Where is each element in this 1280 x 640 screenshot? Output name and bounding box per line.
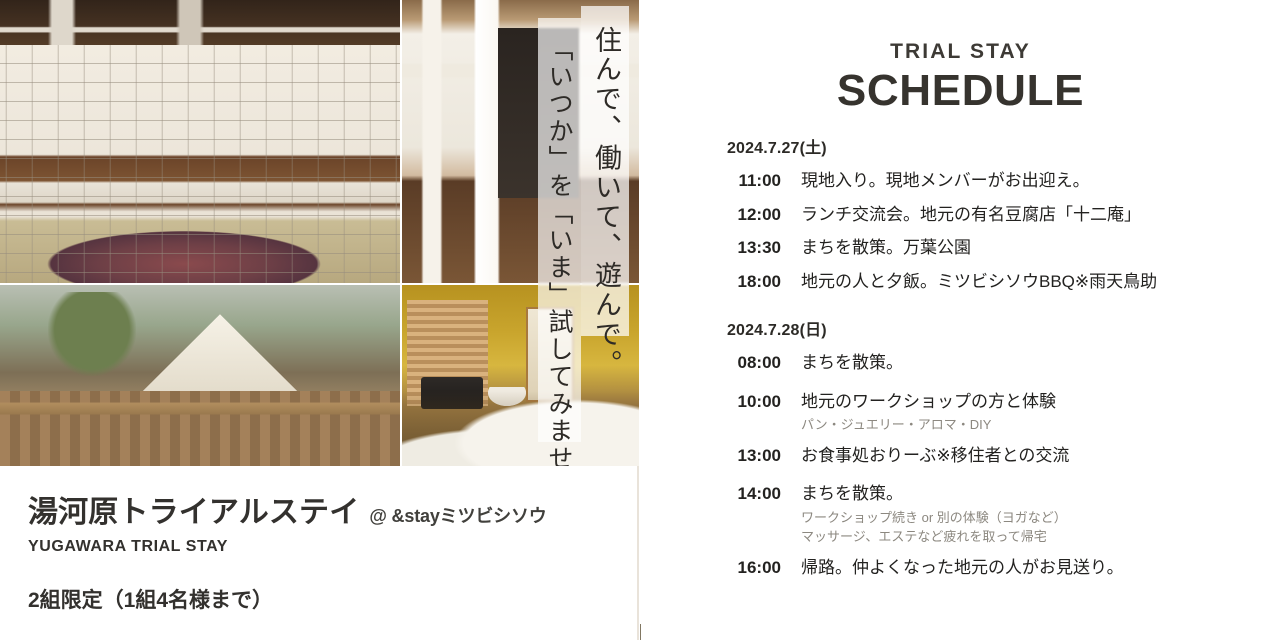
schedule-activity: 地元のワークショップの方と体験 [801, 389, 1056, 415]
schedule-detail: ランチ交流会。地元の有名豆腐店「十二庵」 [801, 202, 1141, 228]
title-row: 湯河原トライアルステイ @ &stayミツビシソウ [28, 487, 628, 531]
schedule-activity: まちを散策。万葉公園 [801, 235, 971, 261]
schedule-row[interactable]: 18:00地元の人と夕飯。ミツビシソウBBQ※雨天鳥助 [641, 265, 1280, 299]
left-visual-panel: 住んで、働いて、遊んで。 「いつか」を「いま」試してみませんか？ 湯河原トライア… [0, 0, 639, 640]
catchcopy-line-1: 住んで、働いて、遊んで。 [581, 6, 629, 336]
schedule-time: 16:00 [641, 555, 801, 581]
schedule-day-block: 2024.7.27(土)11:00現地入り。現地メンバーがお出迎え。12:00ラ… [641, 134, 1280, 298]
schedule-day-label: 2024.7.27(土) [641, 134, 1280, 158]
schedule-rows: 11:00現地入り。現地メンバーがお出迎え。12:00ランチ交流会。地元の有名豆… [641, 164, 1280, 298]
schedule-activity: お食事処おりーぶ※移住者との交流 [801, 443, 1069, 469]
schedule-time: 13:00 [641, 443, 801, 469]
schedule-activity: まちを散策。 [801, 481, 1067, 507]
photo-glamping-tent-deck [0, 285, 400, 466]
schedule-time: 13:30 [641, 235, 801, 261]
kerosene-stove [224, 184, 260, 258]
lounge-sofa [421, 377, 483, 410]
schedule-detail: まちを散策。 [801, 350, 903, 376]
schedule-rows: 08:00まちを散策。10:00地元のワークショップの方と体験パン・ジュエリー・… [641, 346, 1280, 584]
schedule-activity: 地元の人と夕飯。ミツビシソウBBQ※雨天鳥助 [801, 269, 1157, 295]
page-title-ja: 湯河原トライアルステイ [28, 487, 359, 531]
floor-cushions [28, 226, 188, 263]
capacity-note: 2組限定（1組4名様まで） [28, 584, 628, 614]
schedule-kicker: TRIAL STAY [641, 40, 1280, 64]
schedule-activity: 現地入り。現地メンバーがお出迎え。 [801, 168, 1090, 194]
schedule-row[interactable]: 14:00まちを散策。ワークショップ続き or 別の体験（ヨガなど）マッサージ、… [641, 472, 1280, 550]
schedule-detail: まちを散策。ワークショップ続き or 別の体験（ヨガなど）マッサージ、エステなど… [801, 481, 1067, 546]
round-table [488, 387, 526, 405]
schedule-row[interactable]: 16:00帰路。仲よくなった地元の人がお見送り。 [641, 551, 1280, 585]
schedule-days: 2024.7.27(土)11:00現地入り。現地メンバーがお出迎え。12:00ラ… [641, 134, 1280, 584]
schedule-row[interactable]: 13:30まちを散策。万葉公園 [641, 231, 1280, 265]
event-caption: 湯河原トライアルステイ @ &stayミツビシソウ YUGAWARA TRIAL… [28, 487, 628, 614]
schedule-header: TRIAL STAY SCHEDULE [641, 0, 1280, 116]
pendant-lamp [160, 57, 188, 91]
schedule-row[interactable]: 08:00まちを散策。 [641, 346, 1280, 380]
schedule-detail: 帰路。仲よくなった地元の人がお見送り。 [801, 555, 1124, 581]
schedule-time: 10:00 [641, 389, 801, 415]
schedule-activity: ランチ交流会。地元の有名豆腐店「十二庵」 [801, 202, 1141, 228]
schedule-row[interactable]: 10:00地元のワークショップの方と体験パン・ジュエリー・アロマ・DIY [641, 380, 1280, 439]
schedule-day-label: 2024.7.28(日) [641, 316, 1280, 340]
schedule-subnote: パン・ジュエリー・アロマ・DIY [801, 416, 1056, 435]
schedule-detail: 地元の人と夕飯。ミツビシソウBBQ※雨天鳥助 [801, 269, 1157, 295]
page-title-en: YUGAWARA TRIAL STAY [28, 538, 628, 556]
schedule-time: 12:00 [641, 202, 801, 228]
schedule-row[interactable]: 12:00ランチ交流会。地元の有名豆腐店「十二庵」 [641, 198, 1280, 232]
schedule-activity: まちを散策。 [801, 350, 903, 376]
schedule-activity: 帰路。仲よくなった地元の人がお見送り。 [801, 555, 1124, 581]
schedule-row[interactable]: 13:00お食事処おりーぶ※移住者との交流 [641, 439, 1280, 473]
schedule-title: SCHEDULE [641, 66, 1280, 116]
outdoor-chairs [20, 380, 380, 428]
garden-tree [48, 292, 136, 376]
catchcopy-line-2: 「いつか」を「いま」試してみませんか？ [538, 18, 581, 442]
schedule-day-block: 2024.7.28(日)08:00まちを散策。10:00地元のワークショップの方… [641, 316, 1280, 584]
schedule-time: 18:00 [641, 269, 801, 295]
schedule-detail: 現地入り。現地メンバーがお出迎え。 [801, 168, 1090, 194]
schedule-row[interactable]: 11:00現地入り。現地メンバーがお出迎え。 [641, 164, 1280, 198]
schedule-subnote: ワークショップ続き or 別の体験（ヨガなど）マッサージ、エステなど疲れを取って… [801, 509, 1067, 547]
schedule-detail: 地元のワークショップの方と体験パン・ジュエリー・アロマ・DIY [801, 389, 1056, 435]
schedule-detail: まちを散策。万葉公園 [801, 235, 971, 261]
schedule-detail: お食事処おりーぶ※移住者との交流 [801, 443, 1069, 469]
wall-art-decor [8, 68, 56, 130]
schedule-time: 08:00 [641, 350, 801, 376]
schedule-time: 14:00 [641, 481, 801, 507]
schedule-panel: TRIAL STAY SCHEDULE 2024.7.27(土)11:00現地入… [641, 0, 1280, 640]
photo-tatami-living-room [0, 0, 400, 283]
schedule-time: 11:00 [641, 168, 801, 194]
photo-grid: 住んで、働いて、遊んで。 「いつか」を「いま」試してみませんか？ [0, 0, 639, 466]
venue-label: @ &stayミツビシソウ [369, 502, 546, 528]
